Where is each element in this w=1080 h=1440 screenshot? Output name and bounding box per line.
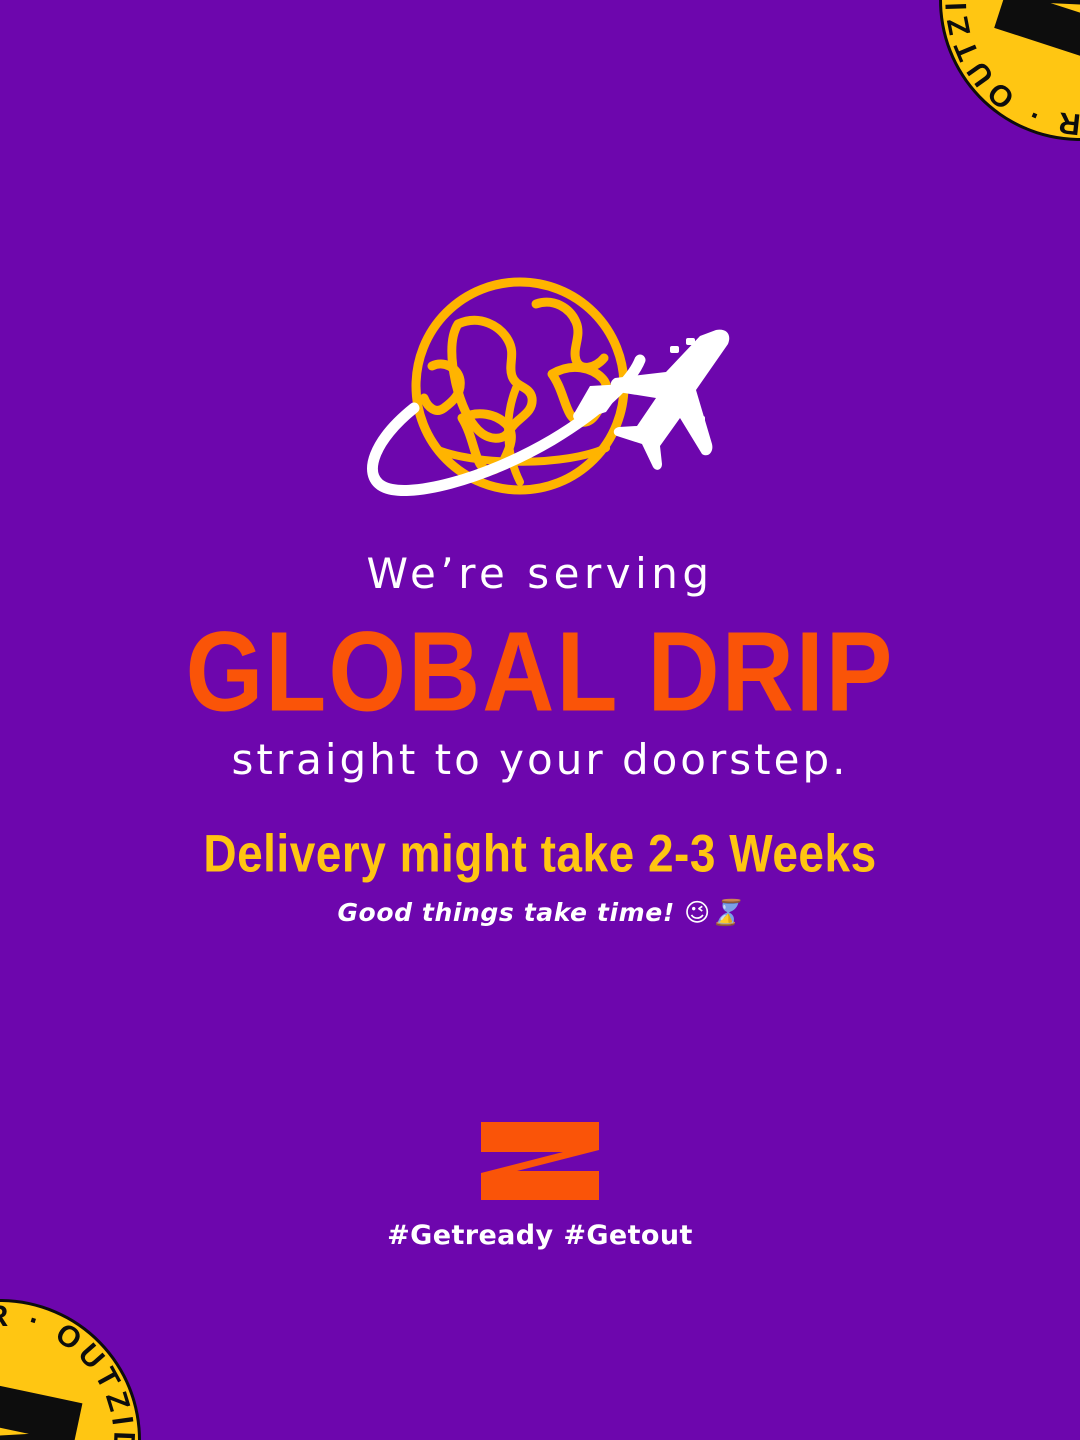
headline-line-3: straight to your doorstep. (0, 738, 1080, 782)
delivery-block: Delivery might take 2-3 Weeks Good thing… (0, 822, 1080, 928)
brand-z-logo (477, 1120, 603, 1202)
delivery-subtext: Good things take time! 😉⌛ (0, 898, 1080, 928)
headline-line-1: We’re serving (0, 552, 1080, 596)
poster-canvas: OUTZIDR · OUTZIDR · OUTZIDR · OUTZIDR · … (0, 0, 1080, 1440)
headline-line-2: GLOBAL DRIP (0, 608, 1080, 738)
delivery-headline: Delivery might take 2-3 Weeks (0, 822, 1080, 884)
sticker-badge-top-right: OUTZIDR · OUTZIDR · OUTZIDR · OUTZIDR · … (897, 0, 1080, 183)
headline-block: We’re serving GLOBAL DRIP straight to yo… (0, 552, 1080, 783)
footer-block: #Getready #Getout (0, 1120, 1080, 1251)
sticker-badge-bottom-left: OUTZIDR · OUTZIDR · OUTZIDR · OUTZIDR · … (0, 1268, 172, 1440)
footer-hashtags: #Getready #Getout (0, 1220, 1080, 1251)
globe-plane-illustration (340, 268, 740, 508)
